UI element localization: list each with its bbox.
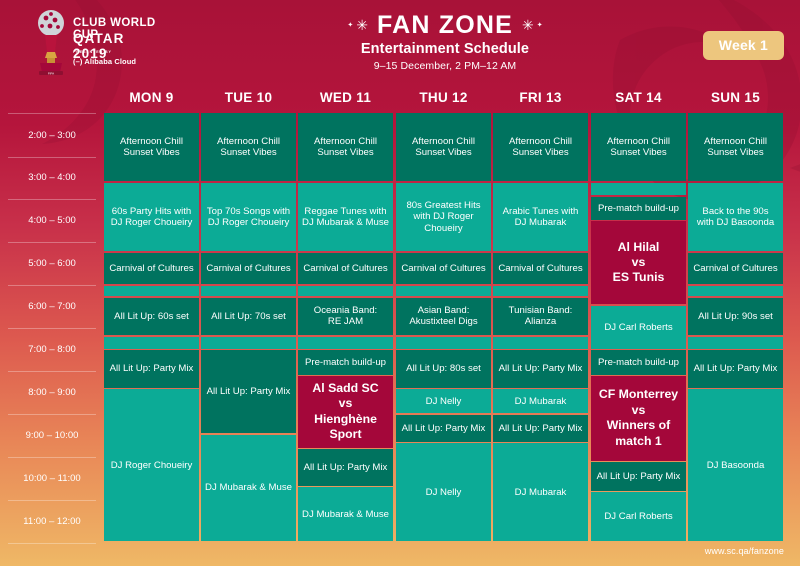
event-cell-all-lit-up-90s-set[interactable]: All Lit Up: 90s set <box>688 298 783 335</box>
event-text-line: DJ Nelly <box>399 396 488 407</box>
event-text-line: Top 70s Songs with <box>204 206 293 217</box>
event-text-line: Reggae Tunes with <box>301 206 390 217</box>
event-text-line: Pre-match build-up <box>594 357 683 368</box>
event-cell-tunisian-band-alianza[interactable]: Tunisian Band:Alianza <box>493 298 588 335</box>
event-text-line: Winners of <box>594 418 683 433</box>
event-text: Tunisian Band:Alianza <box>496 305 585 327</box>
event-text-line: CF Monterrey <box>594 387 683 402</box>
event-text-line: All Lit Up: Party Mix <box>107 363 196 374</box>
event-cell-carnival-of-cultures[interactable]: Carnival of Cultures <box>396 253 491 285</box>
event-text: All Lit Up: 90s set <box>691 311 780 322</box>
event-cell-all-lit-up-party-mix[interactable]: All Lit Up: Party Mix <box>688 350 783 387</box>
event-text-line: Pre-match build-up <box>301 357 390 368</box>
page-title: FAN ZONE <box>377 10 513 40</box>
time-slot-1: 3:00 – 4:00 <box>8 156 96 200</box>
event-text-line: ES Tunis <box>594 270 683 285</box>
event-text: All Lit Up: Party Mix <box>496 423 585 434</box>
time-slot-2: 4:00 – 5:00 <box>8 199 96 243</box>
event-text: DJ Mubarak & Muse <box>301 509 390 520</box>
event-cell-all-lit-up-party-mix[interactable]: All Lit Up: Party Mix <box>201 350 296 433</box>
event-text-line: Afternoon Chill <box>301 136 390 147</box>
time-slot-8: 10:00 – 11:00 <box>8 457 96 501</box>
event-text-line: Sunset Vibes <box>204 147 293 158</box>
event-text: All Lit Up: 80s set <box>399 363 488 374</box>
event-text: Carnival of Cultures <box>204 263 293 274</box>
event-cell-afternoon-chill-sunset-vibes[interactable]: Afternoon ChillSunset Vibes <box>493 113 588 181</box>
time-slot-0: 2:00 – 3:00 <box>8 113 96 158</box>
day-header-tue-10: TUE 10 <box>201 88 296 108</box>
event-text: Al Sadd SCvsHienghèneSport <box>301 381 390 443</box>
event-cell-dj-nelly[interactable]: DJ Nelly <box>396 389 491 413</box>
event-cell-dj-basoonda[interactable]: DJ Basoonda <box>688 389 783 541</box>
event-text: DJ Mubarak <box>496 487 585 498</box>
event-text-line: Tunisian Band: <box>496 305 585 316</box>
event-text-line: Afternoon Chill <box>107 136 196 147</box>
event-text-line: with DJ Basoonda <box>691 217 780 228</box>
event-cell-afternoon-chill-sunset-vibes[interactable]: Afternoon ChillSunset Vibes <box>104 113 199 181</box>
event-text-line: Carnival of Cultures <box>107 263 196 274</box>
svg-text:FIFA: FIFA <box>48 72 54 76</box>
event-text-line: Sunset Vibes <box>691 147 780 158</box>
event-text-line: DJ Roger Choueiry <box>204 217 293 228</box>
event-text: All Lit Up: Party Mix <box>691 363 780 374</box>
event-cell-afternoon-chill-sunset-vibes[interactable]: Afternoon ChillSunset Vibes <box>298 113 393 181</box>
event-cell-spacer <box>396 286 491 297</box>
event-text-line: DJ Carl Roberts <box>594 322 683 333</box>
event-text-line: Carnival of Cultures <box>204 263 293 274</box>
event-text-line: Sunset Vibes <box>399 147 488 158</box>
event-text-line: Carnival of Cultures <box>496 263 585 274</box>
event-text: Carnival of Cultures <box>107 263 196 274</box>
event-text: CF MonterreyvsWinners ofmatch 1 <box>594 387 683 449</box>
event-cell-carnival-of-cultures[interactable]: Carnival of Cultures <box>201 253 296 285</box>
event-cell-spacer <box>201 337 296 349</box>
event-cell-spacer <box>493 337 588 349</box>
event-text-line: DJ Mubarak <box>496 396 585 407</box>
time-slot-7: 9:00 – 10:00 <box>8 414 96 458</box>
event-text: Pre-match build-up <box>594 357 683 368</box>
event-text-line: Hienghène <box>301 412 390 427</box>
event-cell-oceania-band-re-jam[interactable]: Oceania Band:RE JAM <box>298 298 393 335</box>
event-text-line: DJ Basoonda <box>691 460 780 471</box>
event-cell-reggae-tunes-with-dj-mubarak-muse[interactable]: Reggae Tunes withDJ Mubarak & Muse <box>298 183 393 252</box>
week-badge[interactable]: Week 1 <box>703 31 784 60</box>
day-header-sat-14: SAT 14 <box>591 88 686 108</box>
time-slot-5: 7:00 – 8:00 <box>8 328 96 372</box>
poster-header: FIFA CLUB WORLD CUP QATAR 2019 PRESENTED… <box>0 0 800 84</box>
event-text: Arabic Tunes withDJ Mubarak <box>496 206 585 228</box>
event-text: Pre-match build-up <box>594 203 683 214</box>
star-decoration-right: ✳✦ <box>522 18 543 32</box>
event-text-line: with DJ Roger <box>399 211 488 222</box>
event-cell-pre-match-build-up[interactable]: Pre-match build-up <box>591 350 686 374</box>
event-cell-pre-match-build-up[interactable]: Pre-match build-up <box>591 197 686 220</box>
event-text-line: Back to the 90s <box>691 206 780 217</box>
event-text: All Lit Up: Party Mix <box>399 423 488 434</box>
event-text-line: Afternoon Chill <box>496 136 585 147</box>
day-header-sun-15: SUN 15 <box>688 88 783 108</box>
match-cell-al-sadd-sc-vs-hiengh-ne-sport[interactable]: Al Sadd SCvsHienghèneSport <box>298 376 393 448</box>
event-cell-carnival-of-cultures[interactable]: Carnival of Cultures <box>298 253 393 285</box>
event-cell-dj-mubarak-muse[interactable]: DJ Mubarak & Muse <box>201 435 296 542</box>
event-text-line: All Lit Up: Party Mix <box>496 363 585 374</box>
event-text: Reggae Tunes withDJ Mubarak & Muse <box>301 206 390 228</box>
event-text: DJ Carl Roberts <box>594 322 683 333</box>
event-text-line: All Lit Up: Party Mix <box>399 423 488 434</box>
event-cell-top-70s-songs-with-dj-roger-choueiry[interactable]: Top 70s Songs withDJ Roger Choueiry <box>201 183 296 252</box>
event-text: DJ Nelly <box>399 396 488 407</box>
event-text: All Lit Up: Party Mix <box>594 471 683 482</box>
event-cell-spacer <box>298 337 393 349</box>
event-text-line: DJ Roger Choueiry <box>107 460 196 471</box>
trophy-icon: FIFA <box>28 8 74 76</box>
event-text: DJ Mubarak & Muse <box>204 482 293 493</box>
event-cell-dj-mubarak[interactable]: DJ Mubarak <box>493 389 588 413</box>
time-slot-3: 5:00 – 6:00 <box>8 242 96 286</box>
event-cell-all-lit-up-70s-set[interactable]: All Lit Up: 70s set <box>201 298 296 335</box>
event-text: Al HilalvsES Tunis <box>594 240 683 286</box>
title-block: ✦✳ FAN ZONE ✳✦ Entertainment Schedule 9–… <box>280 10 610 72</box>
event-text: DJ Basoonda <box>691 460 780 471</box>
event-text-line: Afternoon Chill <box>691 136 780 147</box>
event-text-line: Arabic Tunes with <box>496 206 585 217</box>
event-text-line: All Lit Up: 90s set <box>691 311 780 322</box>
event-cell-spacer <box>591 183 686 196</box>
event-text-line: vs <box>594 403 683 418</box>
event-text: Afternoon ChillSunset Vibes <box>204 136 293 158</box>
event-text-line: Pre-match build-up <box>594 203 683 214</box>
event-cell-60s-party-hits-with-dj-roger-choueiry[interactable]: 60s Party Hits withDJ Roger Choueiry <box>104 183 199 252</box>
event-text-line: DJ Mubarak <box>496 487 585 498</box>
event-cell-all-lit-up-party-mix[interactable]: All Lit Up: Party Mix <box>104 350 199 387</box>
event-text-line: DJ Mubarak & Muse <box>301 217 390 228</box>
event-text-line: DJ Mubarak & Muse <box>301 509 390 520</box>
event-text: Afternoon ChillSunset Vibes <box>496 136 585 158</box>
event-cell-dj-carl-roberts[interactable]: DJ Carl Roberts <box>591 306 686 349</box>
event-text-line: 60s Party Hits with <box>107 206 196 217</box>
event-cell-all-lit-up-80s-set[interactable]: All Lit Up: 80s set <box>396 350 491 387</box>
event-cell-spacer <box>688 286 783 297</box>
time-slot-9: 11:00 – 12:00 <box>8 500 96 544</box>
event-text: Pre-match build-up <box>301 357 390 368</box>
event-cell-afternoon-chill-sunset-vibes[interactable]: Afternoon ChillSunset Vibes <box>396 113 491 181</box>
event-text-line: All Lit Up: 80s set <box>399 363 488 374</box>
event-cell-afternoon-chill-sunset-vibes[interactable]: Afternoon ChillSunset Vibes <box>591 113 686 181</box>
event-cell-dj-mubarak[interactable]: DJ Mubarak <box>493 443 588 541</box>
event-cell-all-lit-up-party-mix[interactable]: All Lit Up: Party Mix <box>591 462 686 491</box>
event-cell-arabic-tunes-with-dj-mubarak[interactable]: Arabic Tunes withDJ Mubarak <box>493 183 588 252</box>
event-cell-carnival-of-cultures[interactable]: Carnival of Cultures <box>104 253 199 285</box>
event-text: Afternoon ChillSunset Vibes <box>107 136 196 158</box>
event-text: Oceania Band:RE JAM <box>301 305 390 327</box>
event-text: Carnival of Cultures <box>691 263 780 274</box>
event-cell-dj-carl-roberts[interactable]: DJ Carl Roberts <box>591 492 686 541</box>
event-text: All Lit Up: Party Mix <box>107 363 196 374</box>
event-text-line: Oceania Band: <box>301 305 390 316</box>
event-text-line: Afternoon Chill <box>594 136 683 147</box>
event-text-line: All Lit Up: Party Mix <box>301 462 390 473</box>
event-text-line: Carnival of Cultures <box>399 263 488 274</box>
event-text-line: RE JAM <box>301 316 390 327</box>
event-text-line: DJ Nelly <box>399 487 488 498</box>
event-text-line: DJ Mubarak & Muse <box>204 482 293 493</box>
event-cell-all-lit-up-party-mix[interactable]: All Lit Up: Party Mix <box>298 449 393 485</box>
event-cell-all-lit-up-60s-set[interactable]: All Lit Up: 60s set <box>104 298 199 335</box>
event-text-line: Sunset Vibes <box>301 147 390 158</box>
event-cell-afternoon-chill-sunset-vibes[interactable]: Afternoon ChillSunset Vibes <box>688 113 783 181</box>
event-text: All Lit Up: 60s set <box>107 311 196 322</box>
event-cell-all-lit-up-party-mix[interactable]: All Lit Up: Party Mix <box>493 350 588 387</box>
event-text-line: DJ Roger Choueiry <box>107 217 196 228</box>
event-text: DJ Roger Choueiry <box>107 460 196 471</box>
event-cell-dj-roger-choueiry[interactable]: DJ Roger Choueiry <box>104 389 199 541</box>
fanzone-schedule-poster: FIFA CLUB WORLD CUP QATAR 2019 PRESENTED… <box>0 0 800 566</box>
day-header-wed-11: WED 11 <box>298 88 393 108</box>
event-text-line: All Lit Up: Party Mix <box>691 363 780 374</box>
event-text-line: All Lit Up: Party Mix <box>204 386 293 397</box>
event-cell-spacer <box>396 337 491 349</box>
event-cell-afternoon-chill-sunset-vibes[interactable]: Afternoon ChillSunset Vibes <box>201 113 296 181</box>
event-text: DJ Carl Roberts <box>594 511 683 522</box>
event-text-line: All Lit Up: 70s set <box>204 311 293 322</box>
event-cell-carnival-of-cultures[interactable]: Carnival of Cultures <box>493 253 588 285</box>
event-text-line: Al Hilal <box>594 240 683 255</box>
event-text: Carnival of Cultures <box>399 263 488 274</box>
club-world-cup-logo: FIFA CLUB WORLD CUP QATAR 2019 PRESENTED… <box>28 8 163 76</box>
event-text-line: Choueiry <box>399 223 488 234</box>
event-text-line: Sunset Vibes <box>107 147 196 158</box>
event-cell-pre-match-build-up[interactable]: Pre-match build-up <box>298 350 393 374</box>
logo-presented-by: PRESENTED BY <box>73 50 112 54</box>
event-text: Afternoon ChillSunset Vibes <box>691 136 780 158</box>
event-cell-spacer <box>201 286 296 297</box>
event-cell-dj-mubarak-muse[interactable]: DJ Mubarak & Muse <box>298 487 393 541</box>
event-text-line: All Lit Up: 60s set <box>107 311 196 322</box>
event-text: Back to the 90swith DJ Basoonda <box>691 206 780 228</box>
event-text: DJ Mubarak <box>496 396 585 407</box>
date-range: 9–15 December, 2 PM–12 AM <box>280 60 610 72</box>
event-cell-80s-greatest-hits-with-dj-roger-choueiry[interactable]: 80s Greatest Hitswith DJ RogerChoueiry <box>396 183 491 252</box>
event-cell-spacer <box>104 286 199 297</box>
event-text-line: All Lit Up: Party Mix <box>594 471 683 482</box>
event-text-line: vs <box>594 255 683 270</box>
time-slot-4: 6:00 – 7:00 <box>8 285 96 329</box>
event-text: Afternoon ChillSunset Vibes <box>594 136 683 158</box>
event-cell-carnival-of-cultures[interactable]: Carnival of Cultures <box>688 253 783 285</box>
event-text-line: DJ Carl Roberts <box>594 511 683 522</box>
event-text-line: Sport <box>301 427 390 442</box>
event-text: Afternoon ChillSunset Vibes <box>301 136 390 158</box>
footer-url[interactable]: www.sc.qa/fanzone <box>705 546 784 556</box>
event-text-line: vs <box>301 396 390 411</box>
event-cell-spacer <box>493 286 588 297</box>
event-text-line: Carnival of Cultures <box>301 263 390 274</box>
event-text-line: Sunset Vibes <box>594 147 683 158</box>
event-text-line: match 1 <box>594 434 683 449</box>
event-text-line: Carnival of Cultures <box>691 263 780 274</box>
event-text-line: Asian Band: <box>399 305 488 316</box>
day-header-fri-13: FRI 13 <box>493 88 588 108</box>
event-text: Top 70s Songs withDJ Roger Choueiry <box>204 206 293 228</box>
logo-sponsor: (–) Alibaba Cloud <box>73 57 136 66</box>
event-text: All Lit Up: Party Mix <box>204 386 293 397</box>
event-cell-dj-nelly[interactable]: DJ Nelly <box>396 443 491 541</box>
time-slot-6: 8:00 – 9:00 <box>8 371 96 415</box>
event-text-line: 80s Greatest Hits <box>399 200 488 211</box>
event-text: All Lit Up: 70s set <box>204 311 293 322</box>
event-text-line: Alianza <box>496 316 585 327</box>
match-cell-cf-monterrey-vs-winners-of-match-1[interactable]: CF MonterreyvsWinners ofmatch 1 <box>591 376 686 461</box>
event-text: 80s Greatest Hitswith DJ RogerChoueiry <box>399 200 488 234</box>
event-cell-asian-band-akustixteel-digs[interactable]: Asian Band:Akustixteel Digs <box>396 298 491 335</box>
event-cell-all-lit-up-party-mix[interactable]: All Lit Up: Party Mix <box>396 415 491 442</box>
event-text: Carnival of Cultures <box>496 263 585 274</box>
event-text: 60s Party Hits withDJ Roger Choueiry <box>107 206 196 228</box>
event-cell-spacer <box>104 337 199 349</box>
day-header-thu-12: THU 12 <box>396 88 491 108</box>
event-text: Asian Band:Akustixteel Digs <box>399 305 488 327</box>
event-text: Afternoon ChillSunset Vibes <box>399 136 488 158</box>
event-text-line: All Lit Up: Party Mix <box>496 423 585 434</box>
event-text-line: Akustixteel Digs <box>399 316 488 327</box>
event-cell-all-lit-up-party-mix[interactable]: All Lit Up: Party Mix <box>493 415 588 442</box>
event-text: All Lit Up: Party Mix <box>496 363 585 374</box>
event-cell-spacer <box>298 286 393 297</box>
event-text: All Lit Up: Party Mix <box>301 462 390 473</box>
event-text: DJ Nelly <box>399 487 488 498</box>
star-decoration-left: ✦✳ <box>347 18 368 32</box>
match-cell-al-hilal-vs-es-tunis[interactable]: Al HilalvsES Tunis <box>591 221 686 304</box>
event-text: Carnival of Cultures <box>301 263 390 274</box>
day-header-mon-9: MON 9 <box>104 88 199 108</box>
event-text-line: Sunset Vibes <box>496 147 585 158</box>
event-cell-spacer <box>688 337 783 349</box>
event-text-line: Afternoon Chill <box>399 136 488 147</box>
event-text-line: Afternoon Chill <box>204 136 293 147</box>
event-cell-back-to-the-90s-with-dj-basoonda[interactable]: Back to the 90swith DJ Basoonda <box>688 183 783 252</box>
event-text-line: DJ Mubarak <box>496 217 585 228</box>
page-subtitle: Entertainment Schedule <box>280 41 610 57</box>
event-text-line: Al Sadd SC <box>301 381 390 396</box>
